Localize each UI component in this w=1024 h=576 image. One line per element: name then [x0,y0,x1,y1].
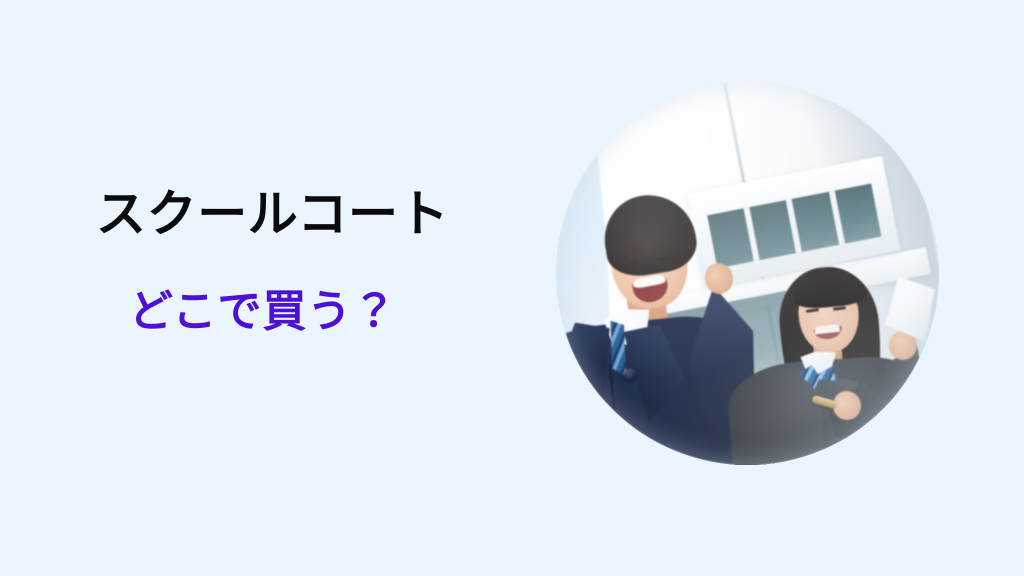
female-student-figure [748,258,940,465]
white-paper-card [879,275,938,344]
female-teeth [815,324,841,334]
coat-button [589,433,601,445]
hero-photo-circle [556,82,939,465]
window-mullion [828,190,844,244]
male-fist [702,260,737,297]
page-title: スクールコート [96,186,449,242]
page-subtitle: どこで買う？ [129,287,397,336]
banner-canvas: スクールコート どこで買う？ [0,0,1024,576]
headline-block: スクールコート どこで買う？ [0,186,540,346]
photo-scene [556,82,939,465]
